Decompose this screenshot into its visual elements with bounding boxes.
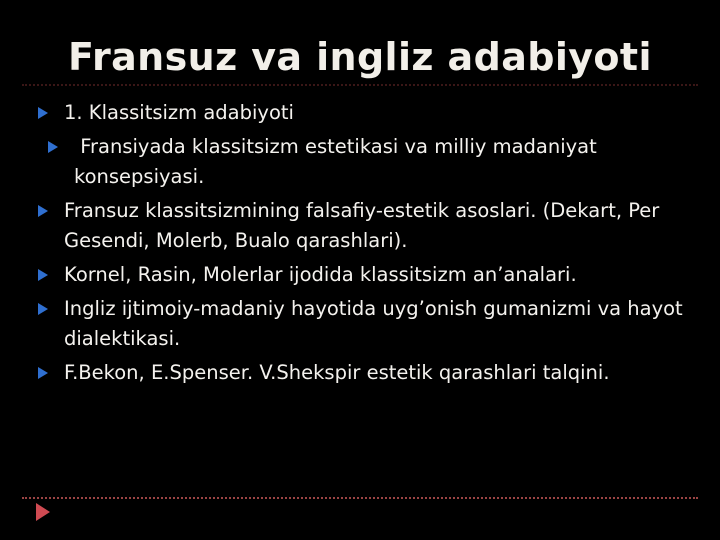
presentation-slide: Fransuz va ingliz adabiyoti 1. Klassitsi… <box>0 0 720 540</box>
list-item-label: Ingliz ijtimoiy-madaniy hayotida uyg’oni… <box>64 294 702 354</box>
slide-title-block: Fransuz va ingliz adabiyoti <box>0 34 720 90</box>
list-item: Fransiyada klassitsizm estetikasi va mil… <box>0 132 720 192</box>
list-item: 1. Klassitsizm adabiyoti <box>0 98 720 128</box>
bullet-list: 1. Klassitsizm adabiyoti Fransiyada klas… <box>0 98 720 392</box>
triangle-right-icon <box>38 303 48 315</box>
list-item-label: 1. Klassitsizm adabiyoti <box>64 98 702 128</box>
list-item: Ingliz ijtimoiy-madaniy hayotida uyg’oni… <box>0 294 720 354</box>
footer-bullet-row <box>0 500 720 534</box>
triangle-right-icon <box>38 107 48 119</box>
triangle-right-icon <box>36 503 50 521</box>
list-item: Kornel, Rasin, Molerlar ijodida klassits… <box>0 260 720 290</box>
list-item-label: Kornel, Rasin, Molerlar ijodida klassits… <box>64 260 702 290</box>
list-item-label: F.Bekon, E.Spenser. V.Shekspir estetik q… <box>64 358 702 388</box>
list-item-label: Fransuz klassitsizmining falsafiy-esteti… <box>64 196 702 256</box>
triangle-right-icon <box>48 141 58 153</box>
footer-divider <box>22 497 698 499</box>
triangle-right-icon <box>38 367 48 379</box>
title-divider <box>22 84 698 86</box>
list-item: Fransuz klassitsizmining falsafiy-esteti… <box>0 196 720 256</box>
triangle-right-icon <box>38 269 48 281</box>
list-item-label: Fransiyada klassitsizm estetikasi va mil… <box>74 132 702 192</box>
triangle-right-icon <box>38 205 48 217</box>
page-title: Fransuz va ingliz adabiyoti <box>0 34 720 80</box>
list-item: F.Bekon, E.Spenser. V.Shekspir estetik q… <box>0 358 720 388</box>
